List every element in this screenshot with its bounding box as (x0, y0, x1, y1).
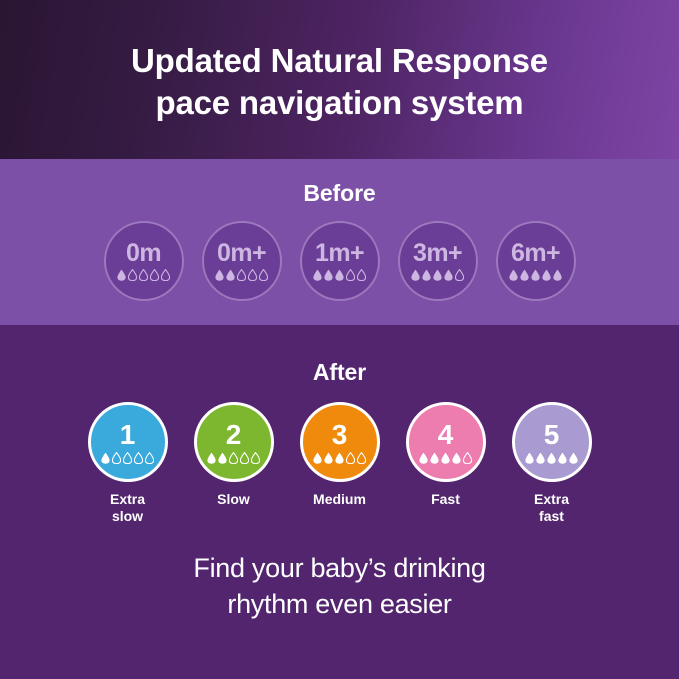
before-circle-row: 0m0m+1m+3m+6m+ (0, 221, 679, 301)
page-title: Updated Natural Response pace navigation… (131, 36, 548, 123)
before-age-label: 0m (126, 241, 161, 266)
after-pace-number: 2 (226, 421, 242, 449)
drop-filled-icon (411, 269, 420, 281)
drop-outline-icon (123, 452, 132, 464)
drop-filled-icon (324, 269, 333, 281)
before-age-circle: 0m (104, 221, 184, 301)
after-pace-item: 5Extra fast (510, 402, 594, 525)
before-section: Before 0m0m+1m+3m+6m+ (0, 159, 679, 325)
before-drop-meter (411, 269, 464, 281)
before-drop-meter (509, 269, 562, 281)
before-age-circle: 0m+ (202, 221, 282, 301)
after-pace-number: 3 (332, 421, 348, 449)
after-pace-label: Fast (431, 491, 460, 508)
footer-tagline-line-1: Find your baby’s drinking (0, 551, 679, 587)
before-heading: Before (0, 159, 679, 207)
after-drop-meter (313, 452, 366, 464)
after-pace-circle: 5 (512, 402, 592, 482)
drop-filled-icon (226, 269, 235, 281)
drop-filled-icon (547, 452, 556, 464)
after-pace-number: 1 (120, 421, 136, 449)
drop-filled-icon (536, 452, 545, 464)
drop-outline-icon (240, 452, 249, 464)
drop-filled-icon (553, 269, 562, 281)
after-heading: After (0, 325, 679, 386)
drop-filled-icon (509, 269, 518, 281)
before-age-label: 6m+ (511, 241, 560, 266)
footer-tagline: Find your baby’s drinking rhythm even ea… (0, 551, 679, 622)
drop-outline-icon (251, 452, 260, 464)
drop-filled-icon (101, 452, 110, 464)
drop-filled-icon (444, 269, 453, 281)
before-drop-meter (117, 269, 170, 281)
drop-filled-icon (324, 452, 333, 464)
drop-filled-icon (531, 269, 540, 281)
drop-outline-icon (346, 452, 355, 464)
before-age-circle: 6m+ (496, 221, 576, 301)
after-pace-number: 4 (438, 421, 454, 449)
after-pace-label: Slow (217, 491, 250, 508)
after-pace-circle: 1 (88, 402, 168, 482)
after-drop-meter (101, 452, 154, 464)
drop-filled-icon (419, 452, 428, 464)
footer-tagline-line-2: rhythm even easier (0, 587, 679, 623)
drop-outline-icon (139, 269, 148, 281)
drop-filled-icon (525, 452, 534, 464)
drop-outline-icon (357, 269, 366, 281)
after-pace-item: 2Slow (192, 402, 276, 508)
infographic-poster: Updated Natural Response pace navigation… (0, 0, 679, 679)
drop-outline-icon (463, 452, 472, 464)
before-age-circle: 3m+ (398, 221, 478, 301)
after-drop-meter (525, 452, 578, 464)
after-drop-meter (419, 452, 472, 464)
drop-outline-icon (357, 452, 366, 464)
drop-outline-icon (455, 269, 464, 281)
drop-filled-icon (542, 269, 551, 281)
before-age-circle: 1m+ (300, 221, 380, 301)
after-pace-item: 1Extra slow (86, 402, 170, 525)
after-circle-row: 1Extra slow2Slow3Medium4Fast5Extra fast (0, 402, 679, 525)
drop-outline-icon (161, 269, 170, 281)
drop-filled-icon (452, 452, 461, 464)
drop-outline-icon (248, 269, 257, 281)
drop-filled-icon (313, 452, 322, 464)
drop-outline-icon (346, 269, 355, 281)
before-age-label: 1m+ (315, 241, 364, 266)
drop-filled-icon (433, 269, 442, 281)
drop-outline-icon (259, 269, 268, 281)
drop-filled-icon (422, 269, 431, 281)
drop-outline-icon (229, 452, 238, 464)
after-pace-number: 5 (544, 421, 560, 449)
drop-outline-icon (145, 452, 154, 464)
drop-filled-icon (215, 269, 224, 281)
page-title-line-1: Updated Natural Response (131, 40, 548, 82)
after-pace-label: Extra slow (110, 491, 145, 525)
drop-filled-icon (218, 452, 227, 464)
before-drop-meter (313, 269, 366, 281)
drop-outline-icon (134, 452, 143, 464)
page-title-line-2: pace navigation system (131, 82, 548, 124)
drop-filled-icon (117, 269, 126, 281)
drop-filled-icon (520, 269, 529, 281)
drop-filled-icon (441, 452, 450, 464)
drop-outline-icon (237, 269, 246, 281)
drop-filled-icon (335, 452, 344, 464)
header-banner: Updated Natural Response pace navigation… (0, 0, 679, 159)
drop-filled-icon (430, 452, 439, 464)
after-pace-label: Extra fast (534, 491, 569, 525)
after-pace-label: Medium (313, 491, 366, 508)
after-pace-circle: 3 (300, 402, 380, 482)
drop-outline-icon (112, 452, 121, 464)
after-pace-circle: 2 (194, 402, 274, 482)
drop-filled-icon (335, 269, 344, 281)
after-pace-item: 4Fast (404, 402, 488, 508)
before-age-label: 3m+ (413, 241, 462, 266)
before-age-label: 0m+ (217, 241, 266, 266)
before-drop-meter (215, 269, 268, 281)
drop-filled-icon (569, 452, 578, 464)
drop-filled-icon (558, 452, 567, 464)
drop-filled-icon (313, 269, 322, 281)
drop-outline-icon (150, 269, 159, 281)
drop-filled-icon (207, 452, 216, 464)
after-drop-meter (207, 452, 260, 464)
drop-outline-icon (128, 269, 137, 281)
after-pace-circle: 4 (406, 402, 486, 482)
after-pace-item: 3Medium (298, 402, 382, 508)
after-section: After 1Extra slow2Slow3Medium4Fast5Extra… (0, 325, 679, 679)
